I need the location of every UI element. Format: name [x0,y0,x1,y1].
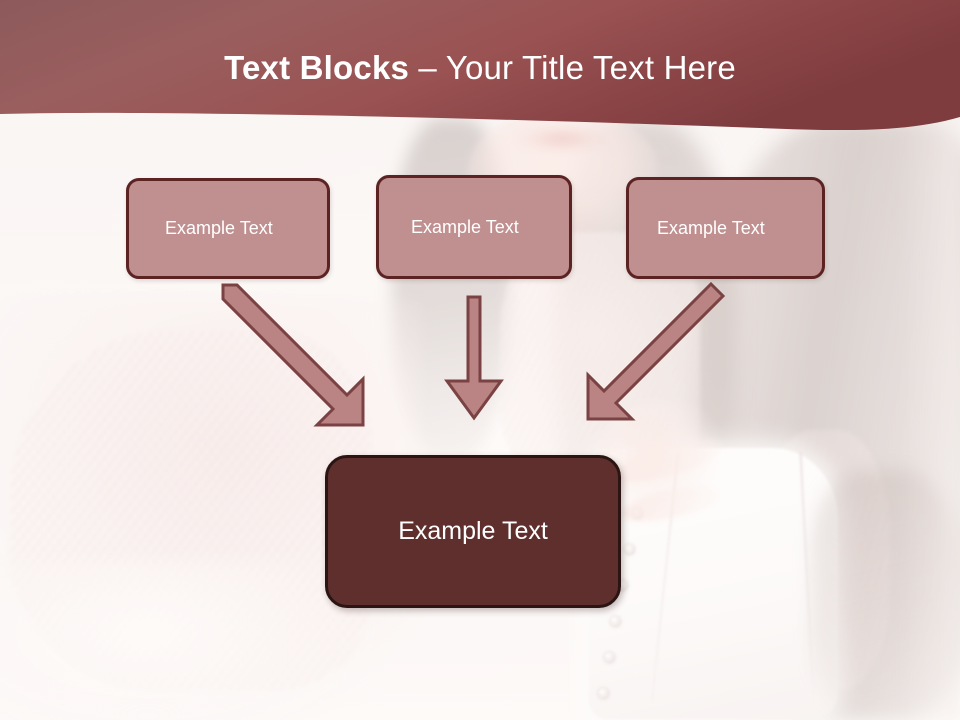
page-title-rest: – Your Title Text Here [409,49,736,86]
text-block-3[interactable]: Example Text [626,177,825,279]
text-block-1[interactable]: Example Text [126,178,330,279]
text-block-1-label: Example Text [129,218,273,239]
text-block-result-label: Example Text [398,517,548,546]
arrow-down-icon [443,295,505,421]
text-block-2-label: Example Text [379,217,519,238]
slide-canvas: Text Blocks – Your Title Text Here Examp… [0,0,960,720]
text-block-2[interactable]: Example Text [376,175,572,279]
text-block-3-label: Example Text [629,218,765,239]
arrow-down-right-shape [223,285,363,425]
text-block-result[interactable]: Example Text [325,455,621,608]
arrow-down-right-icon [215,283,375,428]
arrow-down-left-icon [580,283,725,428]
page-title-strong: Text Blocks [224,49,409,86]
page-title: Text Blocks – Your Title Text Here [0,50,960,86]
arrow-down-left-shape [588,284,723,419]
arrow-down-shape [447,297,501,418]
